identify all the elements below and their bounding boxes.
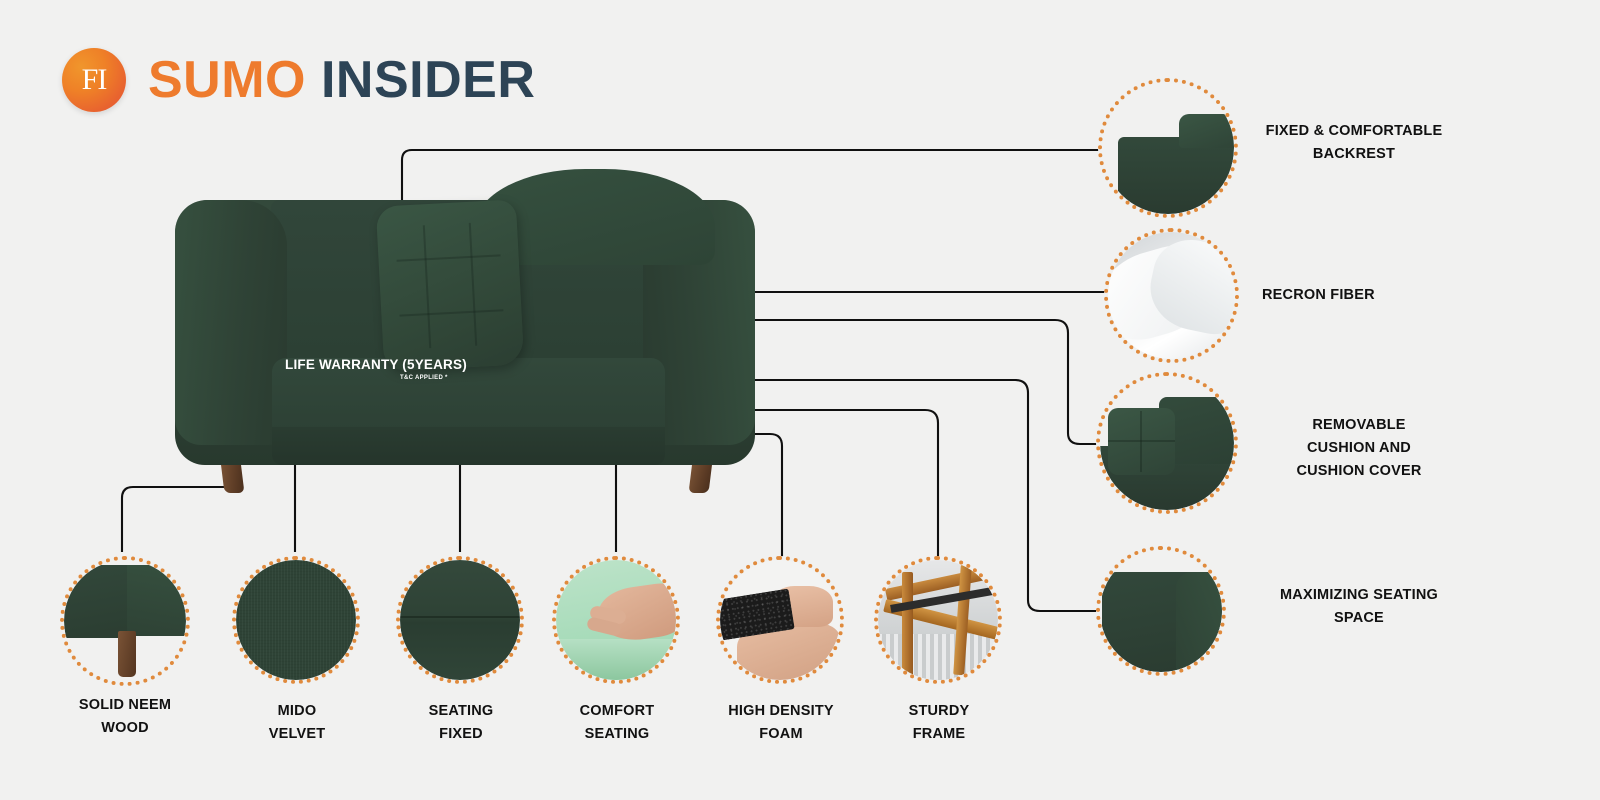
callout-space-label: MAXIMIZING SEATING SPACE	[1240, 584, 1478, 630]
warranty-text: LIFE WARRANTY (5YEARS) T&C APPLIED *	[285, 357, 585, 381]
callout-frame-label: STURDY FRAME	[844, 700, 1034, 746]
sofa-arm-left	[175, 200, 287, 445]
brand-monogram: FI	[82, 65, 107, 95]
sofa-seat-corner-thumb[interactable]	[1096, 546, 1226, 676]
callout-backrest-label: FIXED & COMFORTABLE BACKREST	[1246, 120, 1462, 166]
black-foam-block-thumb[interactable]	[716, 556, 844, 684]
callout-neemwood-label: SOLID NEEM WOOD	[30, 694, 220, 740]
wire-neemwood	[122, 487, 230, 552]
wooden-frame-thumb[interactable]	[874, 556, 1002, 684]
fixed-seat-panel-thumb[interactable]	[396, 556, 524, 684]
sofa-illustration: LIFE WARRANTY (5YEARS) T&C APPLIED *	[175, 165, 770, 495]
callout-cushion-label: REMOVABLE CUSHION AND CUSHION COVER	[1250, 414, 1468, 484]
warranty-main-label: LIFE WARRANTY (5YEARS)	[285, 357, 585, 372]
sofa-backrest-thumb[interactable]	[1098, 78, 1238, 218]
sofa-plinth	[272, 427, 665, 465]
title-word-sumo: SUMO	[148, 51, 306, 109]
wire-frame	[745, 410, 938, 560]
brand-logo: FI SUMO INSIDER	[62, 48, 535, 112]
callout-recron-label: RECRON FIBER	[1262, 284, 1492, 307]
page-title: SUMO INSIDER	[148, 54, 535, 106]
hand-pressing-foam-thumb[interactable]	[552, 556, 680, 684]
infographic-canvas: FI SUMO INSIDER	[0, 0, 1600, 800]
warranty-sub-label: T&C APPLIED *	[400, 375, 585, 381]
white-fiber-pillow-thumb[interactable]	[1104, 228, 1239, 363]
velvet-fabric-thumb[interactable]	[232, 556, 360, 684]
wooden-leg-thumb[interactable]	[60, 556, 190, 686]
sofa-accent-cushion	[376, 199, 524, 371]
callout-velvet-label: MIDO VELVET	[202, 700, 392, 746]
title-word-insider: INSIDER	[321, 51, 535, 109]
callout-comfort-label: COMFORT SEATING	[522, 700, 712, 746]
green-cushions-thumb[interactable]	[1096, 372, 1238, 514]
brand-mark-icon: FI	[62, 48, 126, 112]
